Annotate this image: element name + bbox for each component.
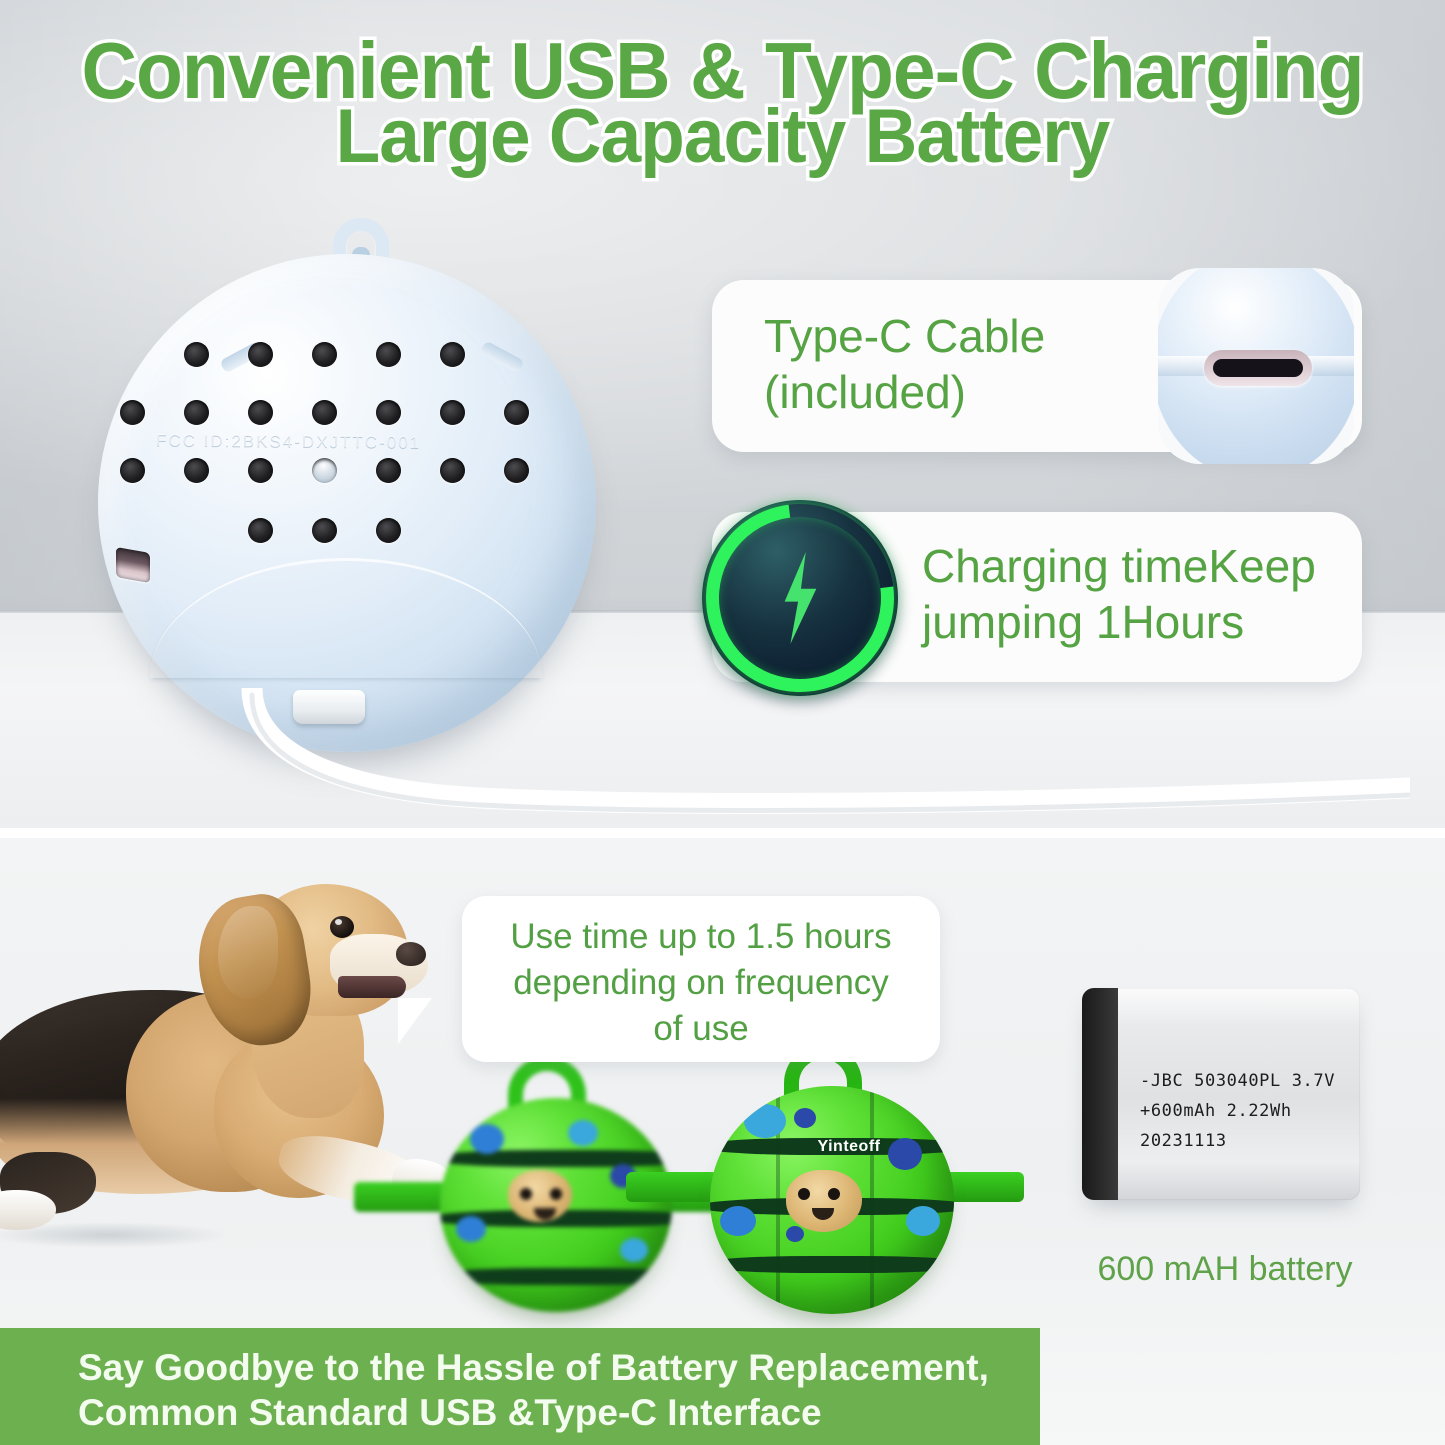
green-toy-ball-front: Yinteoff [700, 1044, 962, 1306]
paw-print [794, 1108, 816, 1128]
vent-hole-row [248, 518, 401, 543]
lithium-battery-image: -JBC 503040PL 3.7V +600mAh 2.22Wh 202311… [1082, 988, 1360, 1200]
vent-hole [312, 518, 337, 543]
vent-hole [376, 458, 401, 483]
vent-hole [184, 342, 209, 367]
dog-nose [396, 942, 426, 966]
callout-charging-line1: Charging timeKeep [922, 538, 1352, 594]
callout-type-c-line1: Type-C Cable [764, 308, 1144, 364]
vent-hole [376, 518, 401, 543]
ball-stripe [440, 1268, 672, 1285]
vent-hole [440, 400, 465, 425]
dog-cartoon-badge [786, 1170, 862, 1232]
vent-hole-lit [312, 458, 337, 483]
paw-print [470, 1124, 504, 1154]
usb-c-port-thumbnail [1158, 268, 1354, 464]
battery-caption: 600 mAH battery [1060, 1250, 1390, 1289]
banner-line-1: Say Goodbye to the Hassle of Battery Rep… [78, 1345, 1008, 1390]
paw-print [568, 1120, 598, 1146]
ball-sphere: Yinteoff [710, 1086, 954, 1314]
beagle-dog-photo [0, 860, 448, 1330]
vent-hole [120, 458, 145, 483]
charging-bolt-icon [702, 500, 898, 696]
vent-hole-row [184, 342, 465, 367]
vent-hole [184, 400, 209, 425]
dog-cartoon-badge [508, 1170, 572, 1222]
ball-usb-port [116, 547, 150, 583]
usage-line-2: depending on frequency [488, 960, 914, 1006]
vent-hole [248, 518, 273, 543]
vent-hole [312, 400, 337, 425]
callout-charging-text: Charging timeKeep jumping 1Hours [922, 538, 1352, 650]
vent-hole [248, 342, 273, 367]
dog-mouth [338, 976, 406, 998]
ball-stripe [440, 1150, 672, 1167]
banner-line-2: Common Standard USB &Type-C Interface [78, 1390, 1008, 1435]
vent-hole-row [120, 458, 529, 483]
brand-label: Yinteoff [794, 1138, 904, 1156]
vent-hole [248, 400, 273, 425]
ball-body: FCC ID:2BKS4-DXJTTC-001 [98, 254, 596, 752]
usage-time-bubble: Use time up to 1.5 hours depending on fr… [462, 896, 940, 1062]
battery-label-line1: -JBC 503040PL 3.7V [1140, 1066, 1352, 1096]
callout-charging-line2: jumping 1Hours [922, 594, 1352, 650]
dog-eye [330, 916, 354, 938]
callout-charging-time[interactable]: Charging timeKeep jumping 1Hours [712, 512, 1362, 682]
vent-hole [440, 342, 465, 367]
usb-c-port-icon [1204, 350, 1312, 386]
paw-print [744, 1104, 786, 1138]
vent-hole [376, 400, 401, 425]
ball-seam-line [870, 1086, 874, 1314]
paw-print [456, 1216, 486, 1242]
charging-cable [80, 688, 1410, 816]
top-product-section: Convenient USB & Type-C Charging Large C… [0, 0, 1445, 828]
bubble-tail [398, 998, 432, 1044]
vent-hole [120, 400, 145, 425]
callout-type-c-text: Type-C Cable (included) [764, 308, 1144, 420]
ball-side-strap [354, 1182, 446, 1212]
dog-ear-highlight [218, 906, 278, 998]
vent-hole [504, 400, 529, 425]
paw-print [620, 1238, 648, 1262]
ball-side-strap [626, 1172, 718, 1202]
battery-label-text: -JBC 503040PL 3.7V +600mAh 2.22Wh 202311… [1140, 1066, 1352, 1156]
ball-seam [150, 558, 542, 678]
bottom-green-banner: Say Goodbye to the Hassle of Battery Rep… [0, 1328, 1040, 1445]
ball-sphere [440, 1098, 672, 1312]
ball-vent-right [479, 340, 524, 373]
paw-print [720, 1206, 756, 1236]
section-divider [0, 828, 1445, 838]
vent-hole [376, 342, 401, 367]
battery-terminal-tab [1082, 988, 1118, 1200]
callout-type-c-cable[interactable]: Type-C Cable (included) [712, 280, 1362, 452]
battery-label-line2: +600mAh 2.22Wh 20231113 [1140, 1096, 1352, 1156]
callout-type-c-line2: (included) [764, 364, 1144, 420]
vent-hole [248, 458, 273, 483]
banner-text: Say Goodbye to the Hassle of Battery Rep… [78, 1345, 1008, 1435]
vent-hole-row [120, 400, 529, 425]
usage-line-1: Use time up to 1.5 hours [488, 914, 914, 960]
paw-print [786, 1226, 804, 1242]
vent-hole [184, 458, 209, 483]
title-line-2: Large Capacity Battery [29, 104, 1416, 170]
ball-stripe [710, 1256, 954, 1273]
usage-time-text: Use time up to 1.5 hours depending on fr… [488, 914, 914, 1052]
usage-line-3: of use [488, 1006, 914, 1052]
fcc-id-label: FCC ID:2BKS4-DXJTTC-001 [156, 431, 476, 454]
paw-print [906, 1206, 940, 1236]
vent-hole [440, 458, 465, 483]
vent-hole [312, 342, 337, 367]
vent-hole [504, 458, 529, 483]
page-title: Convenient USB & Type-C Charging Large C… [0, 38, 1445, 170]
